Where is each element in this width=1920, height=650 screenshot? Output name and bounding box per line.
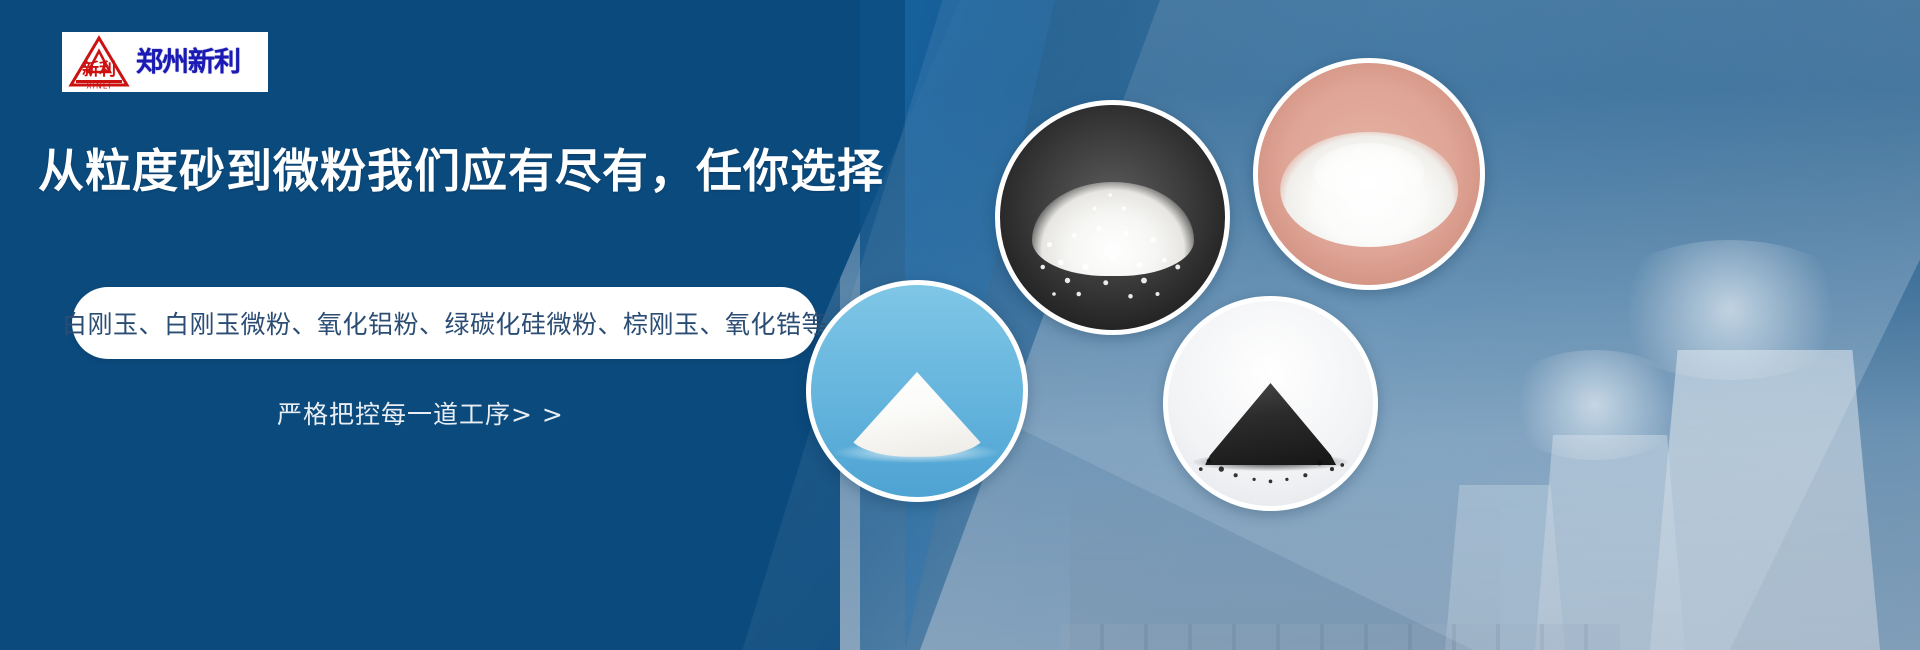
xinli-triangle-emblem-icon: 新利 XINLI — [68, 35, 130, 89]
headline: 从粒度砂到微粉我们应有尽有，任你选择 — [38, 146, 884, 197]
white-powder-highlight — [1314, 143, 1425, 201]
black-granule-specks — [1168, 301, 1373, 506]
granule-specks — [1000, 105, 1225, 330]
svg-text:新利: 新利 — [82, 59, 116, 80]
product-list-text: 白刚玉、白刚玉微粉、氧化铝粉、绿碳化硅微粉、棕刚玉、氧化锆等 — [62, 305, 827, 341]
product-circle-alumina-powder[interactable] — [806, 280, 1028, 502]
logo-company-name: 郑州新利 — [136, 49, 240, 76]
white-powder-cone — [847, 372, 987, 457]
company-logo[interactable]: 新利 XINLI 郑州新利 — [62, 32, 268, 92]
product-list-pill: 白刚玉、白刚玉微粉、氧化铝粉、绿碳化硅微粉、棕刚玉、氧化锆等 — [72, 287, 817, 359]
product-circle-white-fused-alumina-grit[interactable] — [995, 100, 1230, 335]
hero-banner: 新利 XINLI 郑州新利 从粒度砂到微粉我们应有尽有，任你选择 白刚玉、白刚玉… — [0, 0, 1920, 650]
product-circle-white-fused-alumina-micropowder[interactable] — [1253, 58, 1485, 290]
product-circle-silicon-carbide-grit[interactable] — [1163, 296, 1378, 511]
subtitle-cta[interactable]: 严格把控每一道工序> > — [277, 395, 564, 431]
svg-text:XINLI: XINLI — [86, 82, 111, 90]
